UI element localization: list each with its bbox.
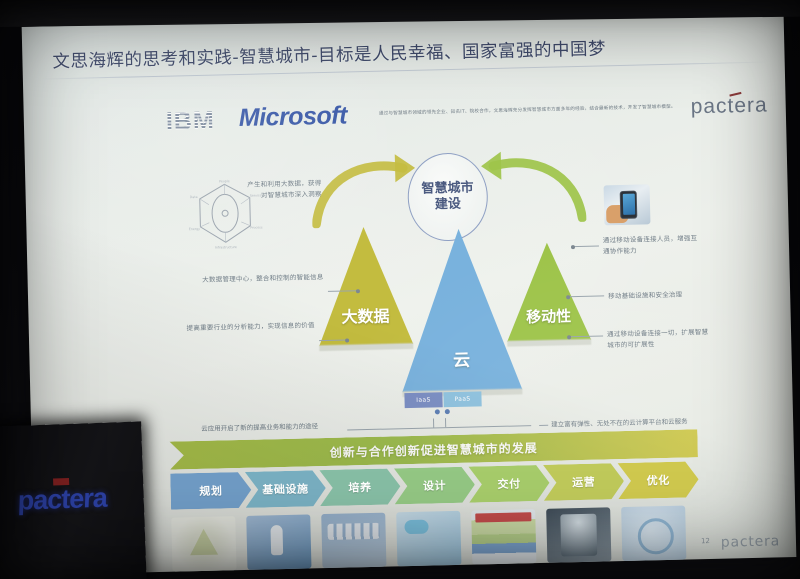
cloud-tier-iaas: IaaS: [404, 392, 442, 408]
pillar-bigdata: 大数据: [316, 226, 413, 346]
pillar-cloud: 云: [399, 227, 523, 392]
annotation-right-2: 移动基础设施和安全治理: [608, 288, 728, 302]
footer-pactera-logo: pactera: [721, 533, 781, 550]
annotation-right-1: 通过移动设备连接人员，增强互通协作能力: [603, 233, 700, 258]
cloud-connector-dots: [435, 409, 450, 414]
annotation-left-3: 提高重要行业的分析能力，实现信息的价值: [149, 320, 315, 335]
pillar-bigdata-label: 大数据: [318, 302, 413, 328]
process-step-3: 培养: [319, 468, 400, 506]
thumb-framework-wheel: [171, 516, 236, 571]
arrow-right-to-center-icon: [481, 148, 587, 224]
annotation-right-3: 通过移动设备连接一切，扩展智慧城市的可扩展性: [607, 327, 714, 352]
process-step-chevrons: 规划基础设施培养设计交付运营优化: [170, 461, 699, 509]
ibm-logo: IBM: [166, 107, 215, 137]
wall-top-band: [0, 0, 800, 27]
pillar-bigdata-base: [319, 343, 413, 351]
pactera-logo: pactera: [690, 94, 768, 120]
microsoft-logo: Microsoft: [239, 101, 348, 133]
cloud-service-tiers: IaaS PaaS: [404, 391, 481, 408]
process-step-7: 优化: [618, 461, 699, 499]
pactera-logo-text: pactera: [690, 94, 768, 119]
pillar-cloud-label: 云: [401, 344, 522, 372]
thumb-radial-diagram: [621, 506, 686, 561]
process-step-5: 交付: [468, 465, 549, 503]
podium-pactera-logo: pactera: [17, 483, 107, 517]
thumb-aerial-city: [546, 507, 611, 562]
thumb-people-row: [321, 513, 386, 568]
leader-line-cloud-note-right: [539, 425, 548, 426]
process-step-label: 运营: [572, 474, 596, 491]
svg-text:Process: Process: [250, 225, 263, 229]
leader-line-cloud-note: [347, 425, 531, 430]
smartphone-shape: [620, 191, 638, 219]
annotation-left-1: 产生和利用大数据，获得对智慧城市深入洞察: [243, 178, 322, 203]
innovation-banner-label: 创新与合作创新促进智慧城市的发展: [330, 439, 538, 461]
svg-text:People: People: [219, 179, 230, 183]
annotation-left-2: 大数据管理中心，整合和控制的智能信息: [172, 272, 324, 287]
intro-paragraph: 通过与智慧城市领域的领先企业、知名IT、院校合作，文思海辉充分发挥智慧城市方面多…: [379, 103, 691, 119]
slide-number: 12: [701, 537, 710, 545]
thumb-dashboard: [471, 509, 536, 564]
svg-text:Infrastructure: Infrastructure: [215, 245, 237, 250]
page-title: 文思海辉的思考和实践-智慧城市-目标是人民幸福、国家富强的中国梦: [52, 32, 752, 73]
arrow-left-to-center-icon: [311, 152, 417, 228]
annotation-cloud-note: 云应用开启了新的提高业务和能力的途径: [201, 420, 318, 433]
connector-dot: [445, 409, 450, 414]
process-step-2: 基础设施: [245, 470, 326, 508]
pillar-mobility-label: 移动性: [506, 305, 590, 328]
process-step-label: 设计: [423, 477, 447, 494]
connector-dot: [435, 409, 440, 414]
svg-text:Energy: Energy: [189, 227, 200, 231]
pillar-bigdata-shape: [316, 226, 413, 346]
process-step-6: 运营: [543, 463, 624, 501]
annotation-cloud-note-right: 建立富有弹性、无处不在的云计算平台和云服务: [551, 415, 688, 428]
process-step-label: 规划: [199, 482, 223, 499]
podium: pactera: [0, 421, 147, 579]
thumb-services-map: [396, 511, 461, 566]
svg-text:Data: Data: [190, 195, 198, 199]
process-step-1: 规划: [170, 472, 251, 510]
core-concept-label: 智慧城市建设: [421, 180, 474, 214]
process-step-4: 设计: [394, 467, 475, 505]
process-step-label: 培养: [348, 479, 372, 496]
pillar-mobility: 移动性: [505, 242, 591, 342]
mobile-device-image: [604, 184, 651, 225]
process-step-label: 优化: [646, 472, 670, 489]
cloud-tier-paas: PaaS: [443, 391, 481, 407]
thumb-city-model: [246, 514, 311, 569]
pillar-mobility-base: [507, 339, 591, 347]
process-step-label: 交付: [497, 475, 521, 492]
process-step-label: 基础设施: [262, 480, 309, 497]
